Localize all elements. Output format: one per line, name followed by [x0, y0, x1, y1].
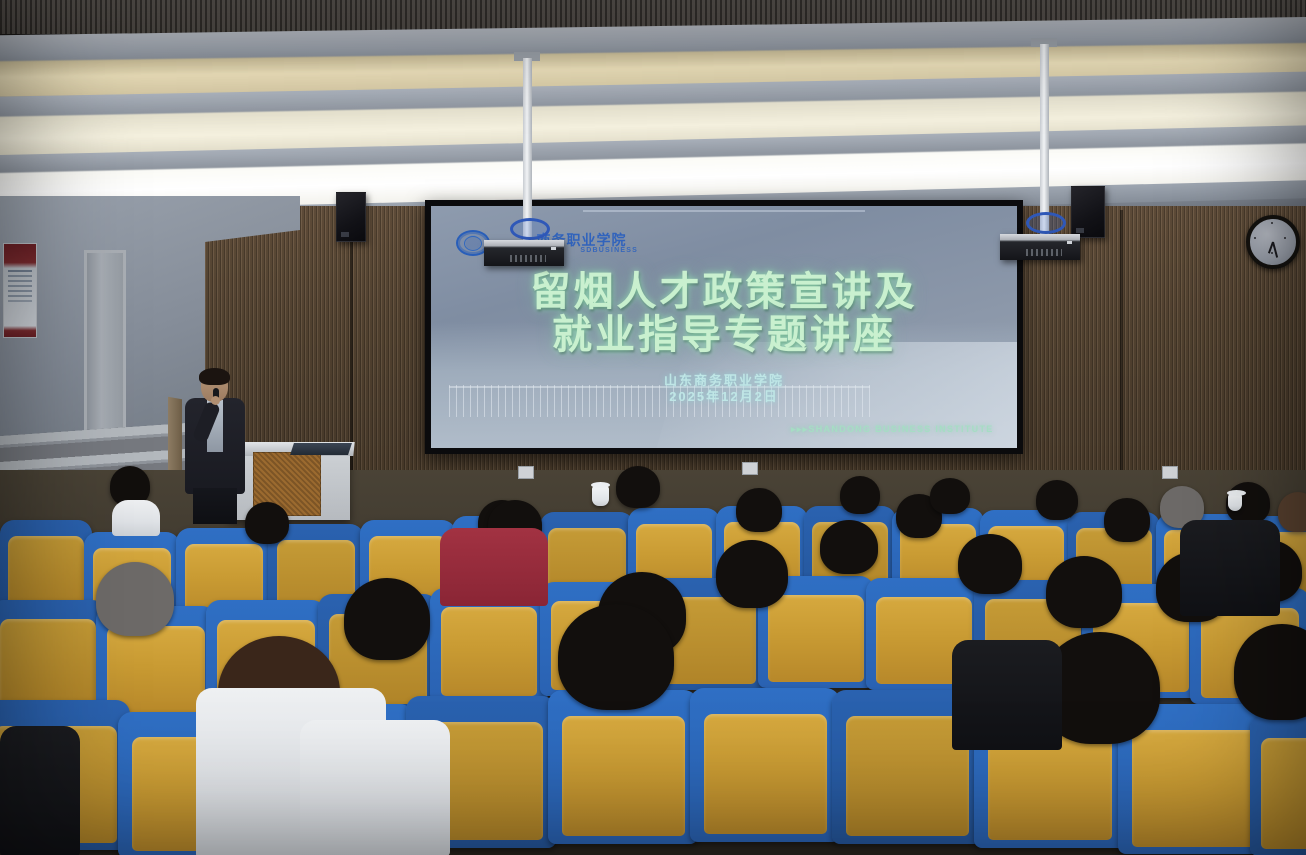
- auditorium-seat: [0, 520, 92, 612]
- slide-footer-text: ▸▸▸SHANDONG BUSINESS INSTITUTE: [791, 424, 994, 435]
- audience-member-head: [96, 562, 174, 636]
- audience-coat: [440, 528, 548, 606]
- wall-outlet: [742, 462, 758, 475]
- audience-member-head: [930, 478, 970, 514]
- projection-screen: 商务职业学院 SDBUSINESS 留烟人才政策宣讲及 就业指导专题讲座 山东商…: [425, 200, 1023, 454]
- audience-member-head: [736, 488, 782, 532]
- wall-clock: [1246, 215, 1300, 269]
- wall-outlet: [1162, 466, 1178, 479]
- seat-cushion: [768, 595, 863, 682]
- slide-subtitle-line-2: 2025年12月2日: [431, 389, 1017, 405]
- audience-member-head: [1036, 480, 1078, 520]
- slide-title: 留烟人才政策宣讲及 就业指导专题讲座: [431, 271, 1017, 356]
- slide-title-line-1: 留烟人才政策宣讲及: [431, 271, 1017, 313]
- slide-top-divider: [583, 210, 864, 212]
- teacup: [1228, 494, 1242, 511]
- slide-subtitle: 山东商务职业学院 2025年12月2日: [431, 373, 1017, 406]
- auditorium-seat: [0, 600, 106, 712]
- audience-member-head: [1104, 498, 1150, 542]
- seat-cushion: [1132, 730, 1258, 847]
- wall-panel-seam: [1120, 210, 1123, 506]
- teacup: [592, 486, 609, 506]
- projector-right: [1000, 234, 1080, 260]
- audience-member-head: [558, 604, 674, 710]
- audience-coat: [112, 500, 160, 536]
- projector-left: [484, 240, 564, 266]
- audience-member-head: [958, 534, 1022, 594]
- wall-outlet: [518, 466, 534, 479]
- auditorium-seat: [548, 690, 698, 844]
- seat-cushion: [562, 716, 685, 836]
- projector-yoke-left: [510, 218, 550, 240]
- school-logo-en-text: SDBUSINESS: [580, 247, 638, 254]
- projector-yoke-right: [1026, 212, 1066, 234]
- auditorium-seat: [1250, 714, 1306, 855]
- slide-subtitle-line-1: 山东商务职业学院: [431, 373, 1017, 389]
- side-door[interactable]: [84, 250, 126, 440]
- slide-title-line-2: 就业指导专题讲座: [431, 314, 1017, 356]
- presenter-hair: [199, 368, 230, 385]
- seat-cushion: [0, 619, 95, 706]
- audience-member-head: [840, 476, 880, 514]
- audience-coat: [952, 640, 1062, 750]
- wall-speaker-left: [336, 192, 366, 242]
- wall-panel-seam: [350, 210, 353, 506]
- wall-poster: [3, 243, 37, 338]
- wall-speaker-right: [1071, 186, 1105, 238]
- auditorium-photo: 商务职业学院 SDBUSINESS 留烟人才政策宣讲及 就业指导专题讲座 山东商…: [0, 0, 1306, 855]
- audience-coat: [300, 720, 450, 855]
- seat-cushion: [846, 716, 969, 836]
- seat-cushion: [704, 714, 827, 834]
- presenter-legs: [193, 488, 237, 524]
- seat-cushion: [8, 536, 83, 608]
- audience-coat: [1180, 520, 1280, 616]
- lectern-monitor: [290, 443, 352, 455]
- audience-member-head: [820, 520, 878, 574]
- auditorium-seat: [690, 688, 840, 842]
- audience-member-head: [245, 502, 289, 544]
- seat-cushion: [1261, 738, 1306, 849]
- presenter: [183, 370, 247, 522]
- audience-member-head: [616, 466, 660, 508]
- clock-minute-hand: [1272, 242, 1278, 258]
- audience-member-head: [1046, 556, 1122, 628]
- seat-cushion: [441, 607, 538, 696]
- audience-member-head: [1278, 492, 1306, 532]
- audience-member-head: [716, 540, 788, 608]
- audience-coat: [0, 726, 80, 855]
- presenter-hand: [211, 396, 220, 405]
- audience-member-head: [344, 578, 430, 660]
